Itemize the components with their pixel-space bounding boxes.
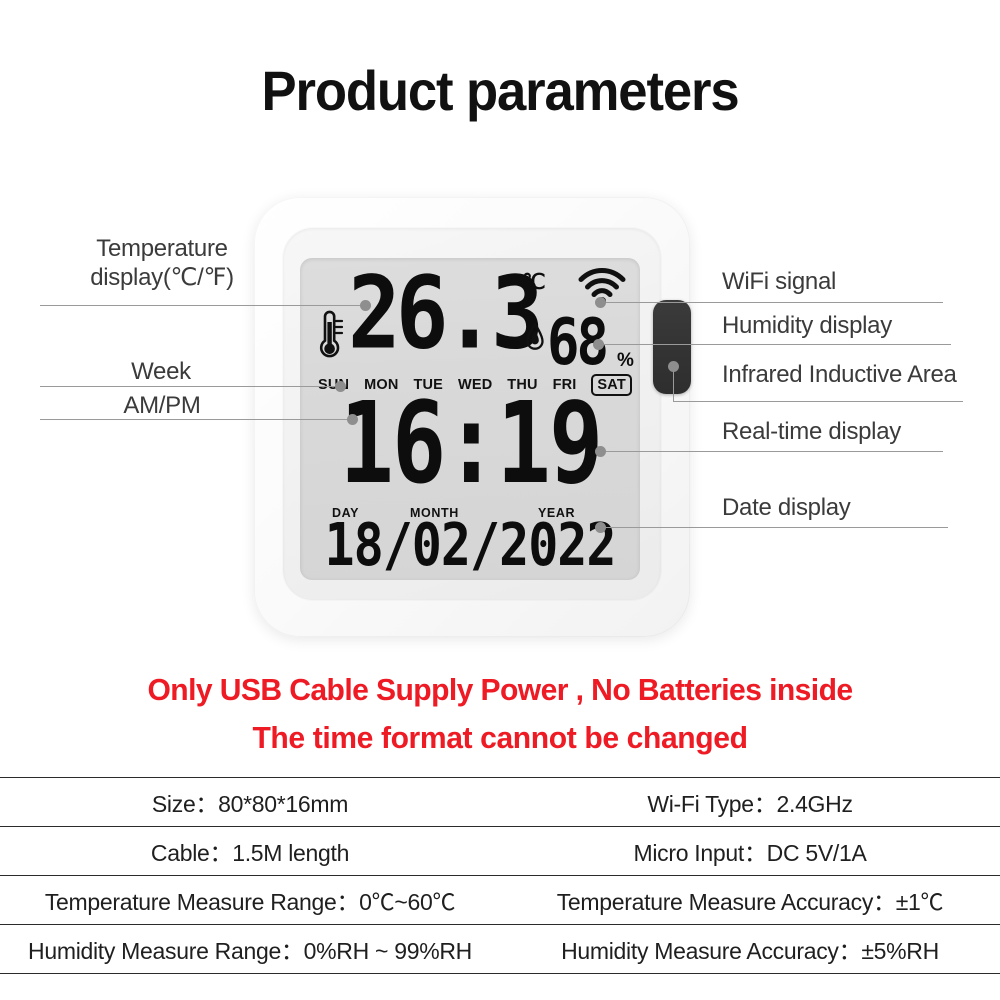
spec-cell-cable: Cable：1.5M length <box>0 827 500 876</box>
spec-cell-micro-input: Micro Input：DC 5V/1A <box>500 827 1000 876</box>
spec-cell-temp-range: Temperature Measure Range：0℃~60℃ <box>0 876 500 925</box>
time-value: 16:19 <box>339 388 601 500</box>
callout-infrared-inductive-area: Infrared Inductive Area <box>722 361 957 389</box>
leader-dot-temperature-display <box>360 300 371 311</box>
leader-line-temperature-display <box>40 305 365 306</box>
spec-cell-humidity-range: Humidity Measure Range：0%RH ~ 99%RH <box>0 925 500 974</box>
leader-dot-date-display <box>595 522 606 533</box>
humidity-unit: % <box>617 350 634 372</box>
leader-line-date-display <box>603 527 948 528</box>
leader-line-week <box>40 386 340 387</box>
callout-wifi-signal: WiFi signal <box>722 268 836 296</box>
lcd-top-row: 26.3 ℃ <box>300 262 640 370</box>
time-row: 16:19 <box>300 398 640 490</box>
leader-line-wifi-signal <box>603 302 943 303</box>
callout-temperature-display-line1: Temperature <box>62 234 262 263</box>
table-row: Humidity Measure Range：0%RH ~ 99%RH Humi… <box>0 925 1000 974</box>
callout-week: Week <box>114 358 208 386</box>
leader-dot-week <box>335 381 346 392</box>
callout-real-time-display: Real-time display <box>722 418 901 446</box>
callout-humidity-display: Humidity display <box>722 312 892 340</box>
table-row: Size：80*80*16mm Wi-Fi Type：2.4GHz <box>0 778 1000 827</box>
leader-line-humidity-display <box>601 344 951 345</box>
water-droplet-icon <box>525 322 545 357</box>
spec-cell-temp-accuracy: Temperature Measure Accuracy：±1℃ <box>500 876 1000 925</box>
callout-date-display: Date display <box>722 494 850 522</box>
leader-dot-infrared-inductive-area <box>668 361 679 372</box>
spec-cell-size: Size：80*80*16mm <box>0 778 500 827</box>
device-illustration: 26.3 ℃ <box>0 0 1000 660</box>
temperature-unit: ℃ <box>522 270 545 294</box>
date-row: 18/02/2022 <box>300 520 640 570</box>
notice-line-2: The time format cannot be changed <box>15 720 985 756</box>
leader-line-infrared-inductive-area <box>673 401 963 402</box>
temperature-value: 26.3 <box>348 264 539 364</box>
callout-temperature-display: Temperature display(℃/℉) <box>62 234 262 293</box>
leader-dot-humidity-display <box>593 339 604 350</box>
infrared-inductive-pad <box>653 300 691 394</box>
spec-cell-humidity-accuracy: Humidity Measure Accuracy：±5%RH <box>500 925 1000 974</box>
leader-dot-real-time-display <box>595 446 606 457</box>
leader-dot-am-pm <box>347 414 358 425</box>
specifications-table: Size：80*80*16mm Wi-Fi Type：2.4GHz Cable：… <box>0 777 1000 974</box>
thermometer-icon <box>312 310 346 367</box>
table-row: Cable：1.5M length Micro Input：DC 5V/1A <box>0 827 1000 876</box>
callout-am-pm: AM/PM <box>104 392 220 420</box>
spec-cell-wifi-type: Wi-Fi Type：2.4GHz <box>500 778 1000 827</box>
notice-line-1: Only USB Cable Supply Power , No Batteri… <box>15 672 985 708</box>
leader-line-am-pm <box>40 419 352 420</box>
date-value: 18/02/2022 <box>324 516 615 575</box>
table-row: Temperature Measure Range：0℃~60℃ Tempera… <box>0 876 1000 925</box>
callout-temperature-display-line2: display(℃/℉) <box>62 263 262 292</box>
leader-dot-wifi-signal <box>595 297 606 308</box>
leader-line-real-time-display <box>603 451 943 452</box>
